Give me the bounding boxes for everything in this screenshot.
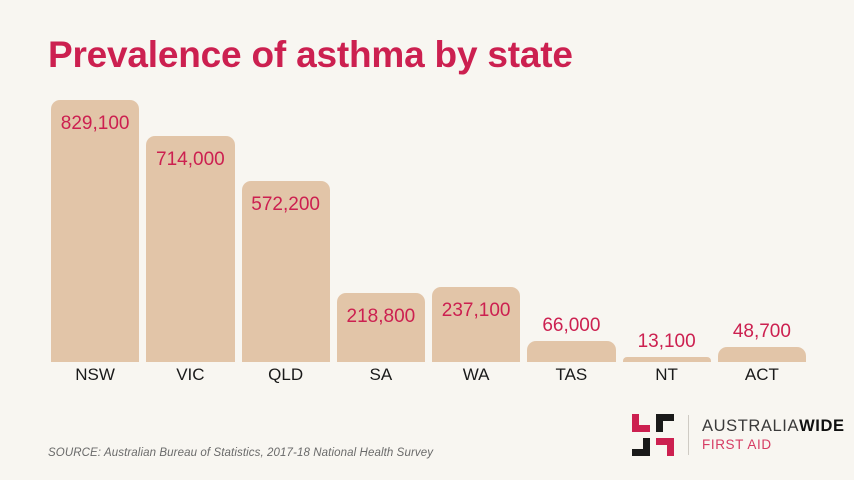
bar-value-qld: 572,200 bbox=[242, 194, 330, 216]
bar-column-nt: 13,100 bbox=[623, 100, 711, 362]
bar-column-tas: 66,000 bbox=[527, 100, 615, 362]
bar-vic: 714,000 bbox=[146, 136, 234, 362]
bar-column-qld: 572,200 bbox=[242, 100, 330, 362]
cross-quadrant-bottom-right bbox=[656, 438, 674, 456]
bar-column-sa: 218,800 bbox=[337, 100, 425, 362]
brand-name-suffix: WIDE bbox=[799, 417, 844, 435]
brand-name-prefix: AUSTRALIA bbox=[702, 417, 799, 435]
bar-nsw: 829,100 bbox=[51, 100, 139, 362]
bar-tas: 66,000 bbox=[527, 341, 615, 362]
axis-label-vic: VIC bbox=[146, 364, 234, 386]
bar-qld: 572,200 bbox=[242, 181, 330, 362]
bar-column-vic: 714,000 bbox=[146, 100, 234, 362]
bar-column-nsw: 829,100 bbox=[51, 100, 139, 362]
bar-value-act: 48,700 bbox=[718, 321, 806, 343]
brand-tagline: FIRST AID bbox=[702, 436, 845, 453]
axis-label-nsw: NSW bbox=[51, 364, 139, 386]
cross-quadrant-top-left bbox=[632, 414, 650, 432]
logo-wordmark: AUSTRALIAWIDE FIRST AID bbox=[702, 417, 845, 453]
bar-column-act: 48,700 bbox=[718, 100, 806, 362]
axis-label-act: ACT bbox=[718, 364, 806, 386]
bar-column-wa: 237,100 bbox=[432, 100, 520, 362]
australia-wide-first-aid-logo: AUSTRALIAWIDE FIRST AID bbox=[632, 412, 845, 458]
bar-value-wa: 237,100 bbox=[432, 300, 520, 322]
logo-divider bbox=[688, 415, 689, 455]
bar-nt: 13,100 bbox=[623, 357, 711, 362]
bar-act: 48,700 bbox=[718, 347, 806, 362]
page-title: Prevalence of asthma by state bbox=[48, 33, 573, 77]
category-axis: NSWVICQLDSAWATASNTACT bbox=[51, 364, 806, 386]
asthma-prevalence-infographic: Prevalence of asthma by state 829,100714… bbox=[0, 0, 854, 480]
bar-wa: 237,100 bbox=[432, 287, 520, 362]
axis-label-qld: QLD bbox=[242, 364, 330, 386]
source-note: SOURCE: Australian Bureau of Statistics,… bbox=[48, 447, 433, 459]
cross-quadrant-bottom-left bbox=[632, 438, 650, 456]
cross-quadrant-top-right bbox=[656, 414, 674, 432]
axis-label-nt: NT bbox=[623, 364, 711, 386]
bar-value-vic: 714,000 bbox=[146, 149, 234, 171]
bar-value-sa: 218,800 bbox=[337, 306, 425, 328]
axis-label-tas: TAS bbox=[527, 364, 615, 386]
bar-value-nsw: 829,100 bbox=[51, 113, 139, 135]
axis-label-wa: WA bbox=[432, 364, 520, 386]
bar-sa: 218,800 bbox=[337, 293, 425, 362]
brand-name: AUSTRALIAWIDE bbox=[702, 417, 845, 436]
bar-chart-plot-area: 829,100714,000572,200218,800237,10066,00… bbox=[51, 100, 806, 362]
axis-label-sa: SA bbox=[337, 364, 425, 386]
bar-value-nt: 13,100 bbox=[623, 331, 711, 353]
first-aid-cross-icon bbox=[632, 414, 674, 456]
bar-value-tas: 66,000 bbox=[527, 315, 615, 337]
bar-series: 829,100714,000572,200218,800237,10066,00… bbox=[51, 100, 806, 362]
